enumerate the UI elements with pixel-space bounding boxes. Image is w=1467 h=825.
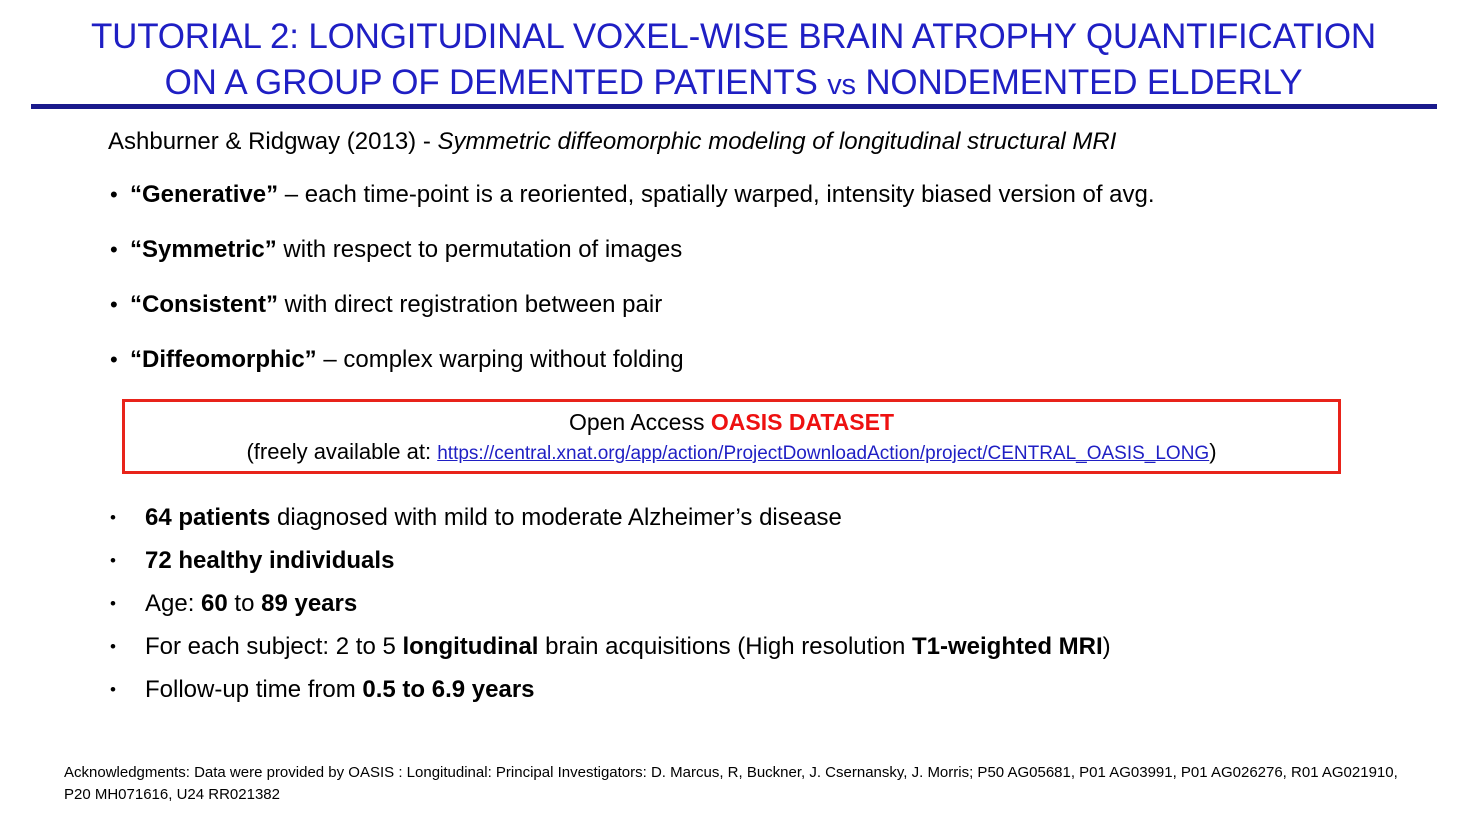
feature-item-consistent: • “Consistent” with direct registration …	[110, 290, 1410, 320]
dataset-plain-lead: Follow-up time from	[145, 676, 362, 703]
dataset-text: Age: 60 to 89 years	[145, 586, 357, 622]
dataset-bold-lead: 0.5 to 6.9 years	[362, 676, 534, 703]
dataset-plain-lead: Age:	[145, 590, 201, 617]
title-line-1: TUTORIAL 2: LONGITUDINAL VOXEL-WISE BRAI…	[0, 14, 1467, 60]
bullet-icon: •	[110, 290, 130, 320]
bullet-icon: •	[110, 629, 145, 665]
dataset-text: Follow-up time from 0.5 to 6.9 years	[145, 672, 535, 708]
oasis-availability: (freely available at: https://central.xn…	[125, 437, 1338, 469]
feature-item-generative: • “Generative” – each time-point is a re…	[110, 180, 1410, 210]
feature-term: “Consistent”	[130, 291, 278, 318]
oasis-dataset-callout: Open Access OASIS DATASET (freely availa…	[122, 399, 1341, 474]
oasis-dataset-label: OASIS DATASET	[711, 409, 894, 435]
dataset-item-followup: • Follow-up time from 0.5 to 6.9 years	[110, 672, 1120, 708]
bullet-icon: •	[110, 543, 145, 579]
dataset-mid: brain acquisitions (High resolution	[538, 633, 912, 660]
feature-rest: – each time-point is a reoriented, spati…	[278, 181, 1154, 208]
dataset-bold-tail: T1-weighted MRI	[912, 633, 1103, 660]
feature-text: “Consistent” with direct registration be…	[130, 290, 662, 320]
bullet-icon: •	[110, 586, 145, 622]
title-line-2-vs: vs	[827, 69, 856, 101]
title-line-2: ON A GROUP OF DEMENTED PATIENTS vs NONDE…	[0, 60, 1467, 108]
feature-term: “Diffeomorphic”	[130, 346, 317, 373]
feature-rest: with respect to permutation of images	[277, 236, 683, 263]
slide-title: TUTORIAL 2: LONGITUDINAL VOXEL-WISE BRAI…	[0, 14, 1467, 108]
dataset-rest: )	[1103, 633, 1111, 660]
dataset-text: 72 healthy individuals	[145, 543, 394, 579]
citation-paper-title: Symmetric diffeomorphic modeling of long…	[437, 128, 1116, 155]
feature-rest: – complex warping without folding	[317, 346, 684, 373]
dataset-bold-lead: longitudinal	[402, 633, 538, 660]
oasis-download-link[interactable]: https://central.xnat.org/app/action/Proj…	[437, 443, 1209, 464]
bullet-icon: •	[110, 180, 130, 210]
title-line-2-before: ON A GROUP OF DEMENTED PATIENTS	[165, 63, 828, 102]
bullet-icon: •	[110, 345, 130, 375]
dataset-plain-lead: For each subject: 2 to 5	[145, 633, 402, 660]
oasis-headline-prefix: Open Access	[569, 409, 711, 435]
acknowledgments-text: Acknowledgments: Data were provided by O…	[64, 762, 1409, 806]
feature-item-symmetric: • “Symmetric” with respect to permutatio…	[110, 235, 1410, 265]
paper-citation: Ashburner & Ridgway (2013) - Symmetric d…	[108, 126, 1116, 158]
feature-bullet-list: • “Generative” – each time-point is a re…	[110, 180, 1410, 400]
dataset-bold-lead: 72 healthy individuals	[145, 547, 394, 574]
dataset-item-healthy: • 72 healthy individuals	[110, 543, 1120, 579]
slide-root: TUTORIAL 2: LONGITUDINAL VOXEL-WISE BRAI…	[0, 0, 1467, 825]
dataset-bold-lead: 64 patients	[145, 504, 270, 531]
title-underline-rule	[31, 104, 1437, 109]
dataset-text: For each subject: 2 to 5 longitudinal br…	[145, 629, 1111, 665]
dataset-bold-lead: 60	[201, 590, 228, 617]
dataset-bold-tail: 89 years	[261, 590, 357, 617]
bullet-icon: •	[110, 235, 130, 265]
oasis-availability-prefix: (freely available at:	[246, 439, 437, 464]
feature-text: “Diffeomorphic” – complex warping withou…	[130, 345, 684, 375]
citation-authors: Ashburner & Ridgway (2013) -	[108, 128, 437, 155]
bullet-icon: •	[110, 500, 145, 536]
oasis-headline: Open Access OASIS DATASET	[125, 408, 1338, 437]
dataset-bullet-list: • 64 patients diagnosed with mild to mod…	[110, 500, 1120, 715]
feature-term: “Generative”	[130, 181, 278, 208]
dataset-rest: diagnosed with mild to moderate Alzheime…	[270, 504, 841, 531]
dataset-item-age: • Age: 60 to 89 years	[110, 586, 1120, 622]
bullet-icon: •	[110, 672, 145, 708]
feature-item-diffeomorphic: • “Diffeomorphic” – complex warping with…	[110, 345, 1410, 375]
feature-text: “Generative” – each time-point is a reor…	[130, 180, 1155, 210]
feature-term: “Symmetric”	[130, 236, 277, 263]
dataset-item-acquisitions: • For each subject: 2 to 5 longitudinal …	[110, 629, 1120, 665]
dataset-item-patients: • 64 patients diagnosed with mild to mod…	[110, 500, 1120, 536]
dataset-mid: to	[228, 590, 261, 617]
oasis-availability-suffix: )	[1209, 439, 1216, 464]
dataset-text: 64 patients diagnosed with mild to moder…	[145, 500, 842, 536]
feature-rest: with direct registration between pair	[278, 291, 662, 318]
title-line-2-after: NONDEMENTED ELDERLY	[856, 63, 1303, 102]
feature-text: “Symmetric” with respect to permutation …	[130, 235, 682, 265]
